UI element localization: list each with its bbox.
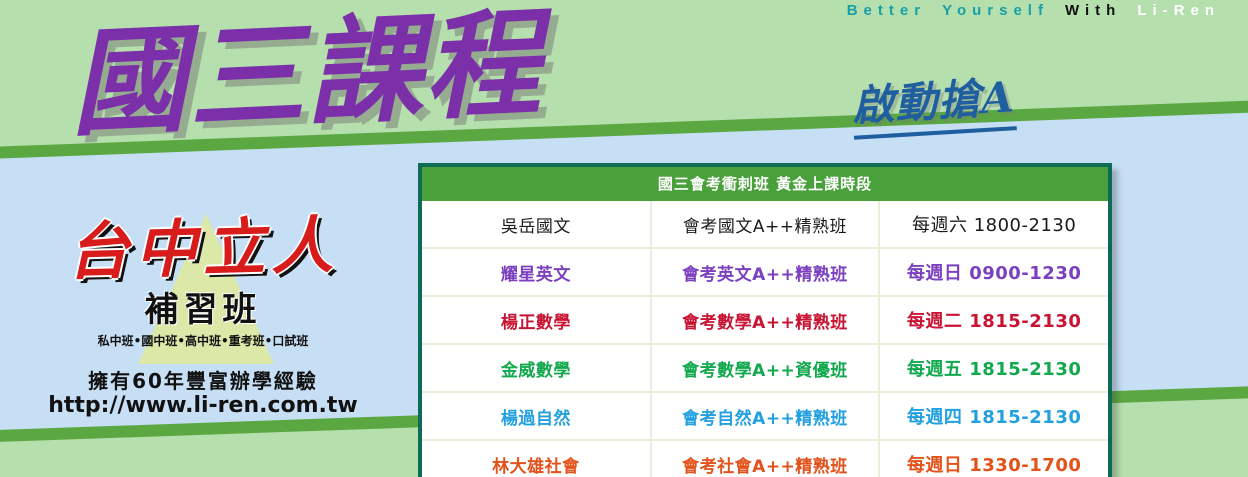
cell-time: 每週五 1815-2130 xyxy=(879,344,1108,392)
table-row: 楊過自然會考自然A++精熟班每週四 1815-2130 xyxy=(422,392,1108,440)
page-title: 國三課程 xyxy=(67,3,544,146)
cell-teacher: 楊正數學 xyxy=(422,296,651,344)
tagline-word-liren: Li-Ren xyxy=(1137,2,1220,19)
brand-logo: 台中立人 補習班 私中班•國中班•高中班•重考班•口試班 擁有60年豐富辦學經驗… xyxy=(38,218,368,418)
table-row: 楊正數學會考數學A++精熟班每週二 1815-2130 xyxy=(422,296,1108,344)
logo-website-url[interactable]: http://www.li-ren.com.tw xyxy=(38,393,368,418)
page-subtitle: 啟動搶A xyxy=(850,63,1016,140)
cell-teacher: 吳岳國文 xyxy=(422,201,651,248)
poster-canvas: BetterYourselfWithLi-Ren 國三課程 啟動搶A 台中立人 … xyxy=(0,0,1248,477)
cell-time: 每週日 0900-1230 xyxy=(879,248,1108,296)
schedule-table-head: 國三會考衝刺班 黃金上課時段 xyxy=(422,167,1108,201)
cell-teacher: 林大雄社會 xyxy=(422,440,651,477)
schedule-table-body: 吳岳國文會考國文A++精熟班每週六 1800-2130耀星英文會考英文A++精熟… xyxy=(422,201,1108,477)
tagline: BetterYourselfWithLi-Ren xyxy=(847,2,1236,19)
logo-brand-kind: 補習班 xyxy=(38,282,368,331)
table-row: 吳岳國文會考國文A++精熟班每週六 1800-2130 xyxy=(422,201,1108,248)
tagline-word-better: Better xyxy=(847,2,926,19)
cell-time: 每週六 1800-2130 xyxy=(879,201,1108,248)
logo-brand-name: 台中立人 xyxy=(37,214,369,285)
cell-course: 會考自然A++精熟班 xyxy=(651,392,880,440)
tagline-word-with: With xyxy=(1065,2,1121,19)
schedule-table-container: 國三會考衝刺班 黃金上課時段 吳岳國文會考國文A++精熟班每週六 1800-21… xyxy=(418,163,1112,477)
cell-time: 每週四 1815-2130 xyxy=(879,392,1108,440)
cell-course: 會考社會A++精熟班 xyxy=(651,440,880,477)
table-row: 林大雄社會會考社會A++精熟班每週日 1330-1700 xyxy=(422,440,1108,477)
cell-time: 每週二 1815-2130 xyxy=(879,296,1108,344)
cell-course: 會考數學A++資優班 xyxy=(651,344,880,392)
table-row: 耀星英文會考英文A++精熟班每週日 0900-1230 xyxy=(422,248,1108,296)
cell-teacher: 耀星英文 xyxy=(422,248,651,296)
cell-course: 會考英文A++精熟班 xyxy=(651,248,880,296)
tagline-word-yourself: Yourself xyxy=(942,2,1049,19)
table-row: 金威數學會考數學A++資優班每週五 1815-2130 xyxy=(422,344,1108,392)
cell-course: 會考國文A++精熟班 xyxy=(651,201,880,248)
schedule-table: 國三會考衝刺班 黃金上課時段 吳岳國文會考國文A++精熟班每週六 1800-21… xyxy=(422,167,1108,477)
cell-teacher: 金威數學 xyxy=(422,344,651,392)
table-header-row: 國三會考衝刺班 黃金上課時段 xyxy=(422,167,1108,201)
logo-experience-text: 擁有60年豐富辦學經驗 xyxy=(38,365,368,394)
cell-course: 會考數學A++精熟班 xyxy=(651,296,880,344)
cell-teacher: 楊過自然 xyxy=(422,392,651,440)
logo-class-tags: 私中班•國中班•高中班•重考班•口試班 xyxy=(38,332,368,349)
schedule-header-title: 國三會考衝刺班 黃金上課時段 xyxy=(422,167,1108,201)
cell-time: 每週日 1330-1700 xyxy=(879,440,1108,477)
